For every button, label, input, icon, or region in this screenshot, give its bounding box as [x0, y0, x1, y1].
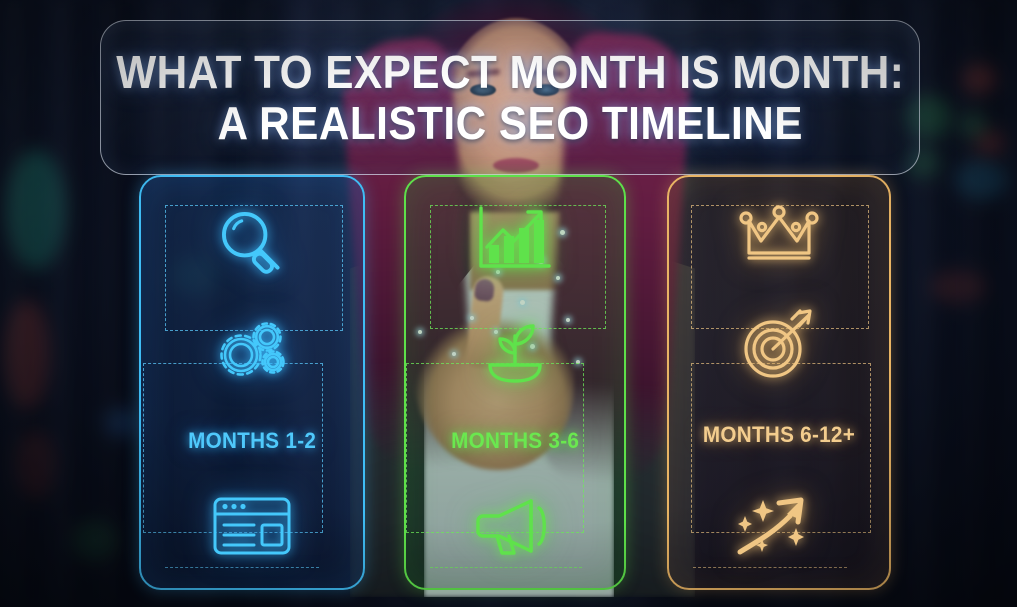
card-3-icon-target-arrow [737, 307, 821, 381]
card-1-label: MONTHS 1-2 [188, 428, 316, 454]
card-1-icon-magnifier [213, 203, 291, 281]
card-2-icon-sprout [474, 313, 556, 387]
card-1-icon-gears [209, 315, 295, 387]
card-2-icon-growth-bar-chart [473, 203, 557, 277]
card-1-icon-browser-window [211, 494, 293, 558]
card-2-label: MONTHS 3-6 [451, 428, 579, 454]
poster-canvas: WHAT TO EXPECT MONTH IS MONTH: A REALIST… [0, 0, 1017, 607]
card-3-label: MONTHS 6-12+ [703, 422, 855, 448]
card-3-icon-sparkle-arrow [732, 490, 826, 558]
card-2-icon-megaphone [473, 494, 557, 558]
card-3-icon-crown [735, 203, 823, 269]
